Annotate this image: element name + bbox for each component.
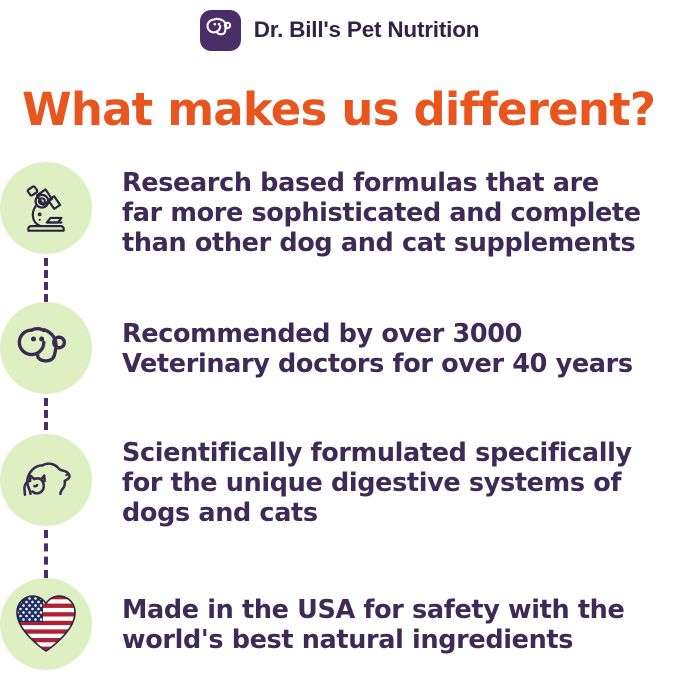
page-title: What makes us different?	[0, 83, 679, 136]
feature-item: Scientifically formulated specifically f…	[0, 434, 679, 534]
feature-item: Research based formulas that are far mor…	[0, 162, 679, 262]
feature-text-line: far more sophisticated and complete	[122, 198, 641, 228]
feature-text-line: Research based formulas that are	[122, 168, 641, 198]
feature-item: Made in the USA for safety with the worl…	[0, 578, 679, 678]
feature-text-line: Scientifically formulated specifically	[122, 438, 632, 468]
connector-line-3	[44, 530, 48, 578]
feature-icon-container	[0, 162, 122, 254]
feature-icon-circle	[0, 302, 92, 394]
dog-and-cat-icon	[14, 448, 78, 512]
usa-flag-heart-icon	[13, 593, 79, 655]
feature-icon-circle	[0, 162, 92, 254]
stethoscope-face-icon	[16, 318, 76, 378]
feature-icon-container	[0, 434, 122, 526]
feature-icon-circle	[0, 434, 92, 526]
feature-text: Scientifically formulated specifically f…	[122, 434, 638, 528]
feature-text: Research based formulas that are far mor…	[122, 162, 647, 258]
connector-line-1	[44, 258, 48, 302]
feature-text-line: for the unique digestive systems of	[122, 468, 632, 498]
feature-icon-circle	[0, 578, 92, 670]
stethoscope-face-icon	[206, 13, 235, 47]
feature-item: Recommended by over 3000 Veterinary doct…	[0, 302, 679, 402]
feature-text-line: Veterinary doctors for over 40 years	[122, 349, 633, 379]
feature-list: Research based formulas that are far mor…	[0, 162, 679, 678]
microscope-icon	[17, 179, 75, 237]
feature-text-line: world's best natural ingredients	[122, 625, 624, 655]
feature-icon-container	[0, 302, 122, 394]
feature-text-line: than other dog and cat supplements	[122, 228, 641, 258]
feature-text-line: Recommended by over 3000	[122, 319, 633, 349]
feature-text: Recommended by over 3000 Veterinary doct…	[122, 302, 639, 379]
feature-icon-container	[0, 578, 122, 670]
feature-text: Made in the USA for safety with the worl…	[122, 578, 630, 655]
feature-text-line: dogs and cats	[122, 498, 632, 528]
brand-name: Dr. Bill's Pet Nutrition	[254, 17, 480, 43]
feature-text-line: Made in the USA for safety with the	[122, 595, 624, 625]
brand-logo-mark	[200, 10, 241, 51]
brand-header: Dr. Bill's Pet Nutrition	[0, 0, 679, 56]
